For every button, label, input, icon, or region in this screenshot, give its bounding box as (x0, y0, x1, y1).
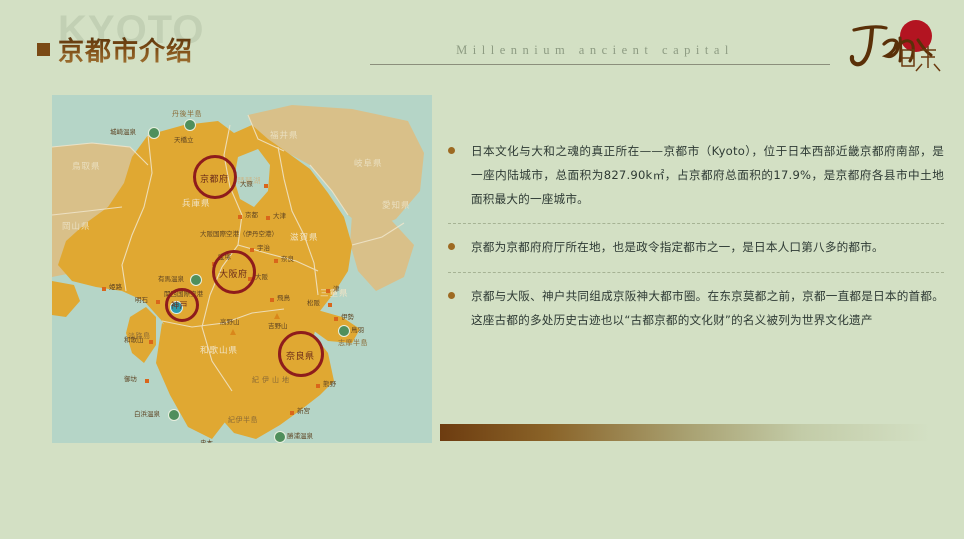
map-label-prefecture-outer: 岡山県 (62, 223, 91, 232)
map-label-prefecture-outer: 岐阜県 (354, 160, 383, 169)
city-dot (102, 287, 106, 291)
map-label-airport: 大阪国際空港（伊丹空港） (200, 231, 278, 238)
map-label-city: 城崎温泉 (110, 129, 136, 136)
slide-header: KYOTO 京都市介绍 Millennium ancient capital (0, 0, 964, 92)
onsen-icon (168, 409, 180, 421)
bullet-item: 京都与大阪、神户共同组成京阪神大都市圈。在东京莫都之前，京都一直都是日本的首都。… (448, 285, 944, 333)
map-label-city: 明石 (135, 297, 148, 304)
bullet-dot-icon (448, 147, 455, 154)
map-label-city: 白浜温泉 (134, 411, 160, 418)
map-label-city: 御坊 (124, 376, 137, 383)
onsen-icon (190, 274, 202, 286)
page-title: 京都市介绍 (58, 31, 193, 68)
map-label-prefecture-outer: 鳥取県 (72, 163, 101, 172)
onsen-icon (338, 325, 350, 337)
map-label-prefecture: 和歌山県 (200, 347, 238, 356)
map-highlight-label: 大阪府 (219, 267, 248, 280)
map-label-city: 新宮 (297, 408, 310, 415)
bullet-separator (448, 272, 944, 273)
map-label-city: 宇治 (257, 245, 270, 252)
bullet-text: 京都与大阪、神户共同组成京阪神大都市圈。在东京莫都之前，京都一直都是日本的首都。… (471, 285, 944, 333)
map-label-city: 伊勢 (341, 314, 354, 321)
mountain-icon (274, 313, 280, 319)
kansai-map-panel[interactable]: 兵庫県 滋賀県 和歌山県 三重県 鳥取県 岡山県 福井県 岐阜県 愛知県 丹後半… (52, 95, 432, 443)
map-label-city: 熊野 (323, 381, 336, 388)
city-dot (250, 248, 254, 252)
map-label-city: 大阪 (255, 274, 268, 281)
city-dot (328, 303, 332, 307)
subtitle: Millennium ancient capital (370, 43, 820, 58)
subtitle-divider (370, 64, 830, 65)
city-dot (290, 411, 294, 415)
city-dot (270, 298, 274, 302)
map-label-city: 高野山 (220, 319, 240, 326)
city-dot (266, 216, 270, 220)
map-label-geo: 丹後半島 (172, 111, 202, 118)
bullet-item: 京都为京都府府厅所在地，也是政令指定都市之一，是日本人口第八多的都市。 (448, 236, 944, 260)
map-label-city: 奈良 (281, 256, 294, 263)
map-label-geo: 紀伊山地 (252, 377, 292, 384)
map-label-city: 大原 (240, 181, 253, 188)
bullet-text: 京都为京都府府厅所在地，也是政令指定都市之一，是日本人口第八多的都市。 (471, 236, 884, 260)
mountain-icon (230, 329, 236, 335)
map-label-city: 津 (333, 286, 340, 293)
map-label-city: 大津 (273, 213, 286, 220)
bullet-dot-icon (448, 292, 455, 299)
city-dot (316, 384, 320, 388)
map-label-prefecture-outer: 福井県 (270, 132, 299, 141)
map-label-city: 飛鳥 (277, 295, 290, 302)
map-highlight-label: 神戸 (171, 300, 188, 311)
map-label-city: 天橋立 (174, 137, 194, 144)
japan-logo (838, 14, 950, 78)
city-dot (326, 289, 330, 293)
bullet-separator (448, 223, 944, 224)
map-label-city: 姫路 (109, 284, 122, 291)
accent-gradient-bar (440, 424, 930, 441)
bullet-item: 日本文化与大和之魂的真正所在——京都市（Kyoto），位于日本西部近畿京都府南部… (448, 140, 944, 211)
map-label-geo: 志摩半島 (338, 340, 368, 347)
map-label-prefecture: 滋賀県 (290, 234, 319, 243)
bullet-text: 日本文化与大和之魂的真正所在——京都市（Kyoto），位于日本西部近畿京都府南部… (471, 140, 944, 211)
map-label-city: 和歌山 (124, 337, 144, 344)
map-label-city: 京都 (245, 212, 258, 219)
bullet-dot-icon (448, 243, 455, 250)
city-dot (334, 317, 338, 321)
city-dot (264, 184, 268, 188)
map-label-city: 吉野山 (268, 323, 288, 330)
city-dot (149, 340, 153, 344)
city-dot (274, 259, 278, 263)
land-small-island-west (52, 281, 80, 317)
map-highlight-label: 奈良県 (286, 349, 315, 362)
map-label-city: 勝浦温泉 (287, 433, 313, 440)
map-label-city: 松阪 (307, 300, 320, 307)
map-label-geo: 紀伊半島 (228, 417, 258, 424)
onsen-icon (148, 127, 160, 139)
map-highlight-label: 京都府 (200, 172, 229, 185)
city-dot (238, 215, 242, 219)
map-label-city: 鳥羽 (351, 327, 364, 334)
map-label-city: 串本 (200, 440, 213, 443)
land-aichi-outer (350, 215, 414, 291)
map-label-prefecture: 兵庫県 (182, 200, 211, 209)
rising-sun-circle (900, 20, 932, 52)
city-dot (145, 379, 149, 383)
japan-kanji (902, 46, 940, 71)
onsen-icon (184, 119, 196, 131)
map-label-city: 有馬温泉 (158, 276, 184, 283)
content-bullets: 日本文化与大和之魂的真正所在——京都市（Kyoto），位于日本西部近畿京都府南部… (448, 140, 944, 333)
title-bullet-square (37, 43, 50, 56)
onsen-icon (274, 431, 286, 443)
city-dot (156, 300, 160, 304)
map-label-prefecture-outer: 愛知県 (382, 202, 411, 211)
